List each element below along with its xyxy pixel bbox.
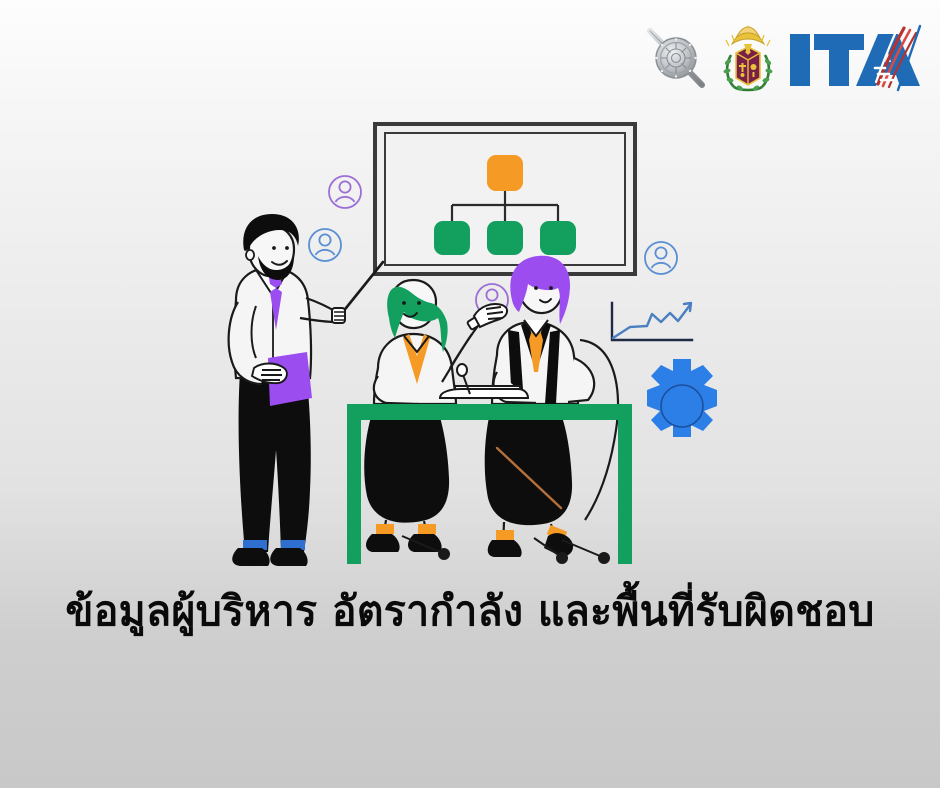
gear-icon bbox=[647, 359, 717, 437]
banner-page: ข้อมูลผู้บริหาร อัตรากำลัง และพื้นที่รับ… bbox=[0, 0, 940, 788]
royal-thai-police-medallion bbox=[642, 21, 710, 95]
avatar-icon-purple bbox=[329, 176, 361, 208]
growth-trend-chart bbox=[612, 303, 692, 340]
avatar-icon-blue-right bbox=[645, 242, 677, 274]
org-chart-root-node bbox=[487, 155, 523, 191]
medallion-icon bbox=[642, 21, 710, 95]
org-chart-whiteboard bbox=[375, 124, 635, 274]
page-title: ข้อมูลผู้บริหาร อัตรากำลัง และพื้นที่รับ… bbox=[65, 586, 874, 637]
open-hand-gesture bbox=[474, 304, 507, 327]
emblem-icon bbox=[720, 22, 776, 94]
ita-wordmark bbox=[786, 20, 926, 96]
ita-logo bbox=[786, 20, 926, 96]
logo-strip bbox=[642, 18, 926, 98]
avatar-icon-blue-left bbox=[309, 229, 341, 261]
title-bar: ข้อมูลผู้บริหาร อัตรากำลัง และพื้นที่รับ… bbox=[0, 586, 940, 637]
org-chart-child-node bbox=[434, 221, 470, 255]
emblem-crown bbox=[726, 25, 770, 46]
thai-government-emblem bbox=[720, 22, 776, 94]
org-chart-child-node bbox=[540, 221, 576, 255]
emblem-shield bbox=[736, 44, 760, 85]
org-chart-child-node bbox=[487, 221, 523, 255]
